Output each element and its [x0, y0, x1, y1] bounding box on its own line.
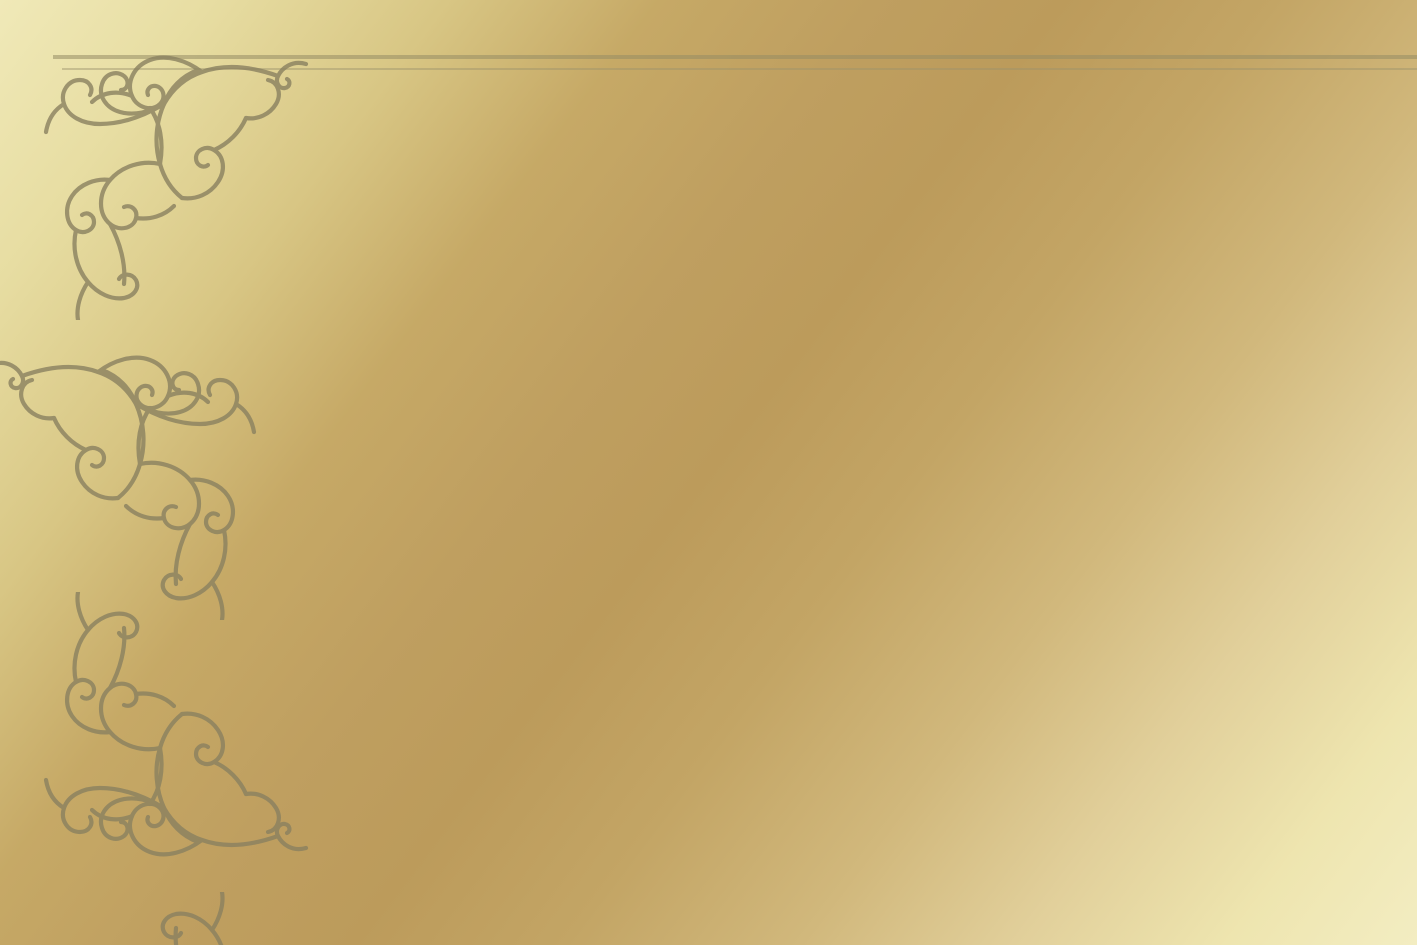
- corner-flourish-top-right-icon: [0, 320, 286, 620]
- frame-inner-line: [62, 68, 1417, 70]
- corner-flourish-bottom-right-icon: [0, 892, 286, 945]
- award-plaque: 1952 地大热能 DI DA RE NENG 地热工程研究中心 中国地质大学（…: [0, 0, 1417, 945]
- frame-outer-line: [53, 55, 1417, 59]
- corner-flourish-bottom-left-icon: [14, 592, 314, 892]
- corner-flourish-top-left-icon: [14, 20, 314, 320]
